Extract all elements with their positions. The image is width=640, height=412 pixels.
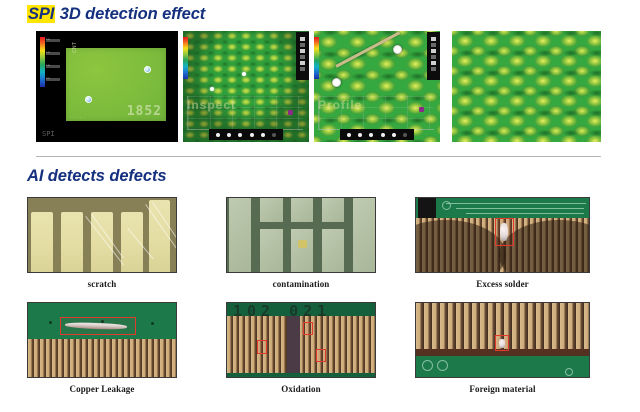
toolbar-dot-icon[interactable] <box>369 133 373 137</box>
defect-label: Oxidation <box>226 384 376 394</box>
toolbar-button-icon[interactable] <box>300 55 305 59</box>
toolbar-dot-icon[interactable] <box>358 133 362 137</box>
pad <box>322 198 344 222</box>
panel-bottom-toolbar[interactable] <box>209 129 283 140</box>
pcb-silkscreen-text: 102 021 <box>233 302 331 320</box>
defect-image-contamination[interactable] <box>226 197 376 273</box>
toolbar-dot-icon[interactable] <box>392 133 396 137</box>
pcb-via-ring <box>442 201 451 210</box>
toolbar-button-icon[interactable] <box>300 43 305 47</box>
toolbar-button-icon[interactable] <box>431 37 436 41</box>
panel-side-toolbar[interactable] <box>296 32 309 80</box>
section-divider <box>36 156 601 157</box>
measurement-point-marker[interactable] <box>210 87 214 91</box>
toolbar-button-icon[interactable] <box>431 49 436 53</box>
toolbar-dot-icon[interactable] <box>381 133 385 137</box>
defect-label: Excess solder <box>415 279 590 289</box>
pad <box>353 198 375 273</box>
page-title-ai: AI detects defects <box>27 167 166 186</box>
defect-marker[interactable] <box>419 107 424 112</box>
measurement-point-marker[interactable] <box>85 96 92 103</box>
pad <box>291 229 313 273</box>
toolbar-dot-icon[interactable] <box>261 133 265 137</box>
defect-image-copper-leakage[interactable] <box>27 302 177 378</box>
toolbar-button-icon[interactable] <box>431 67 436 71</box>
colorbar-tick: 0.15 <box>46 52 60 55</box>
defect-image-scratch[interactable] <box>27 197 177 273</box>
height-map-scale-text: . . . . . <box>70 114 85 120</box>
pad <box>91 212 113 273</box>
spi-panel-height-map-overview[interactable]: 0.20 0.15 0.10 0.05 CNT 1852 . . . . . S… <box>36 31 178 142</box>
pad <box>260 198 283 222</box>
toolbar-dot-icon[interactable] <box>238 133 242 137</box>
ghost-graph-label: Inspect <box>187 98 236 112</box>
spi-highlight-text: SPI <box>27 5 55 23</box>
colorbar-tick: 0.10 <box>46 65 60 68</box>
defect-image-foreign-material[interactable] <box>415 302 590 378</box>
detection-box[interactable] <box>257 340 267 354</box>
detection-box[interactable] <box>316 349 326 362</box>
toolbar-dot-icon[interactable] <box>227 133 231 137</box>
defect-label: Foreign material <box>415 384 590 394</box>
toolbar-button-icon[interactable] <box>431 43 436 47</box>
detection-box[interactable] <box>60 317 136 335</box>
panel-side-toolbar[interactable] <box>427 32 440 80</box>
colorbar-tick: 0.20 <box>46 39 60 42</box>
oxidation-dark-band <box>287 316 300 373</box>
pcb-via <box>151 322 154 325</box>
solder-paste-3d-shadow <box>452 31 601 142</box>
toolbar-button-icon[interactable] <box>300 61 305 65</box>
defect-label: Copper Leakage <box>27 384 177 394</box>
toolbar-dot-icon[interactable] <box>347 133 351 137</box>
detection-box[interactable] <box>495 218 514 246</box>
spi-title-rest: 3D detection effect <box>55 5 205 23</box>
spi-panel-paste-array-2d[interactable]: Inspect <box>183 31 309 142</box>
pcb-via <box>49 321 52 324</box>
height-map-value-label: 1852 <box>127 104 162 119</box>
pad <box>291 198 313 222</box>
page-root: SPI 3D detection effect 0.20 0.15 0.10 0… <box>0 0 640 412</box>
pcb-via-ring <box>565 368 573 376</box>
defect-label: contamination <box>226 279 376 289</box>
copper-fingers <box>28 339 176 377</box>
page-title-spi: SPI 3D detection effect <box>27 5 205 24</box>
panel-corner-label: SPI <box>42 130 55 138</box>
pcb-via-ring <box>422 360 433 371</box>
detection-box[interactable] <box>495 335 509 351</box>
toolbar-button-icon[interactable] <box>431 61 436 65</box>
toolbar-button-icon[interactable] <box>300 49 305 53</box>
measurement-point-marker[interactable] <box>242 72 246 76</box>
contamination-spot <box>298 240 307 248</box>
pcb-via-ring <box>437 360 448 371</box>
pad <box>260 229 283 273</box>
pcb-trace <box>446 203 586 204</box>
toolbar-dot-icon[interactable] <box>250 133 254 137</box>
pad <box>31 212 53 273</box>
defect-image-oxidation[interactable]: 102 021 <box>226 302 376 378</box>
pad <box>61 212 83 273</box>
measurement-endpoint-marker[interactable] <box>332 78 341 87</box>
toolbar-dot-icon[interactable] <box>403 133 407 137</box>
colorbar-scale-icon <box>40 37 45 87</box>
spi-panel-row: 0.20 0.15 0.10 0.05 CNT 1852 . . . . . S… <box>0 31 640 142</box>
defect-label: scratch <box>27 279 177 289</box>
toolbar-button-icon[interactable] <box>300 37 305 41</box>
toolbar-dot-icon[interactable] <box>216 133 220 137</box>
pcb-trace <box>456 208 584 209</box>
toolbar-button-icon[interactable] <box>431 55 436 59</box>
colorbar-scale-icon <box>183 37 188 79</box>
toolbar-button-icon[interactable] <box>300 67 305 71</box>
defect-marker[interactable] <box>288 110 293 115</box>
height-map-axis-label: CNT <box>72 42 78 53</box>
copper-fingers <box>227 316 375 373</box>
colorbar-scale-icon <box>314 37 319 79</box>
edge-shadow <box>418 198 436 218</box>
measurement-point-marker[interactable] <box>144 66 151 73</box>
ghost-graph-label: Profile <box>318 98 362 112</box>
height-map-canvas[interactable]: CNT 1852 . . . . . <box>66 48 166 121</box>
measurement-endpoint-marker[interactable] <box>393 45 402 54</box>
pad <box>322 229 344 273</box>
defect-image-excess-solder[interactable] <box>415 197 590 273</box>
detection-box[interactable] <box>303 322 313 335</box>
toolbar-dot-icon[interactable] <box>272 133 276 137</box>
spi-panel-paste-array-3d-measure[interactable]: Profile <box>314 31 440 142</box>
colorbar-tick: 0.05 <box>46 78 60 81</box>
panel-bottom-toolbar[interactable] <box>340 129 414 140</box>
pcb-trace <box>466 213 584 214</box>
defect-gallery-grid: scratch contamination <box>0 197 640 407</box>
pad <box>229 198 251 273</box>
spi-panel-paste-array-3d-zoom[interactable] <box>452 31 601 142</box>
